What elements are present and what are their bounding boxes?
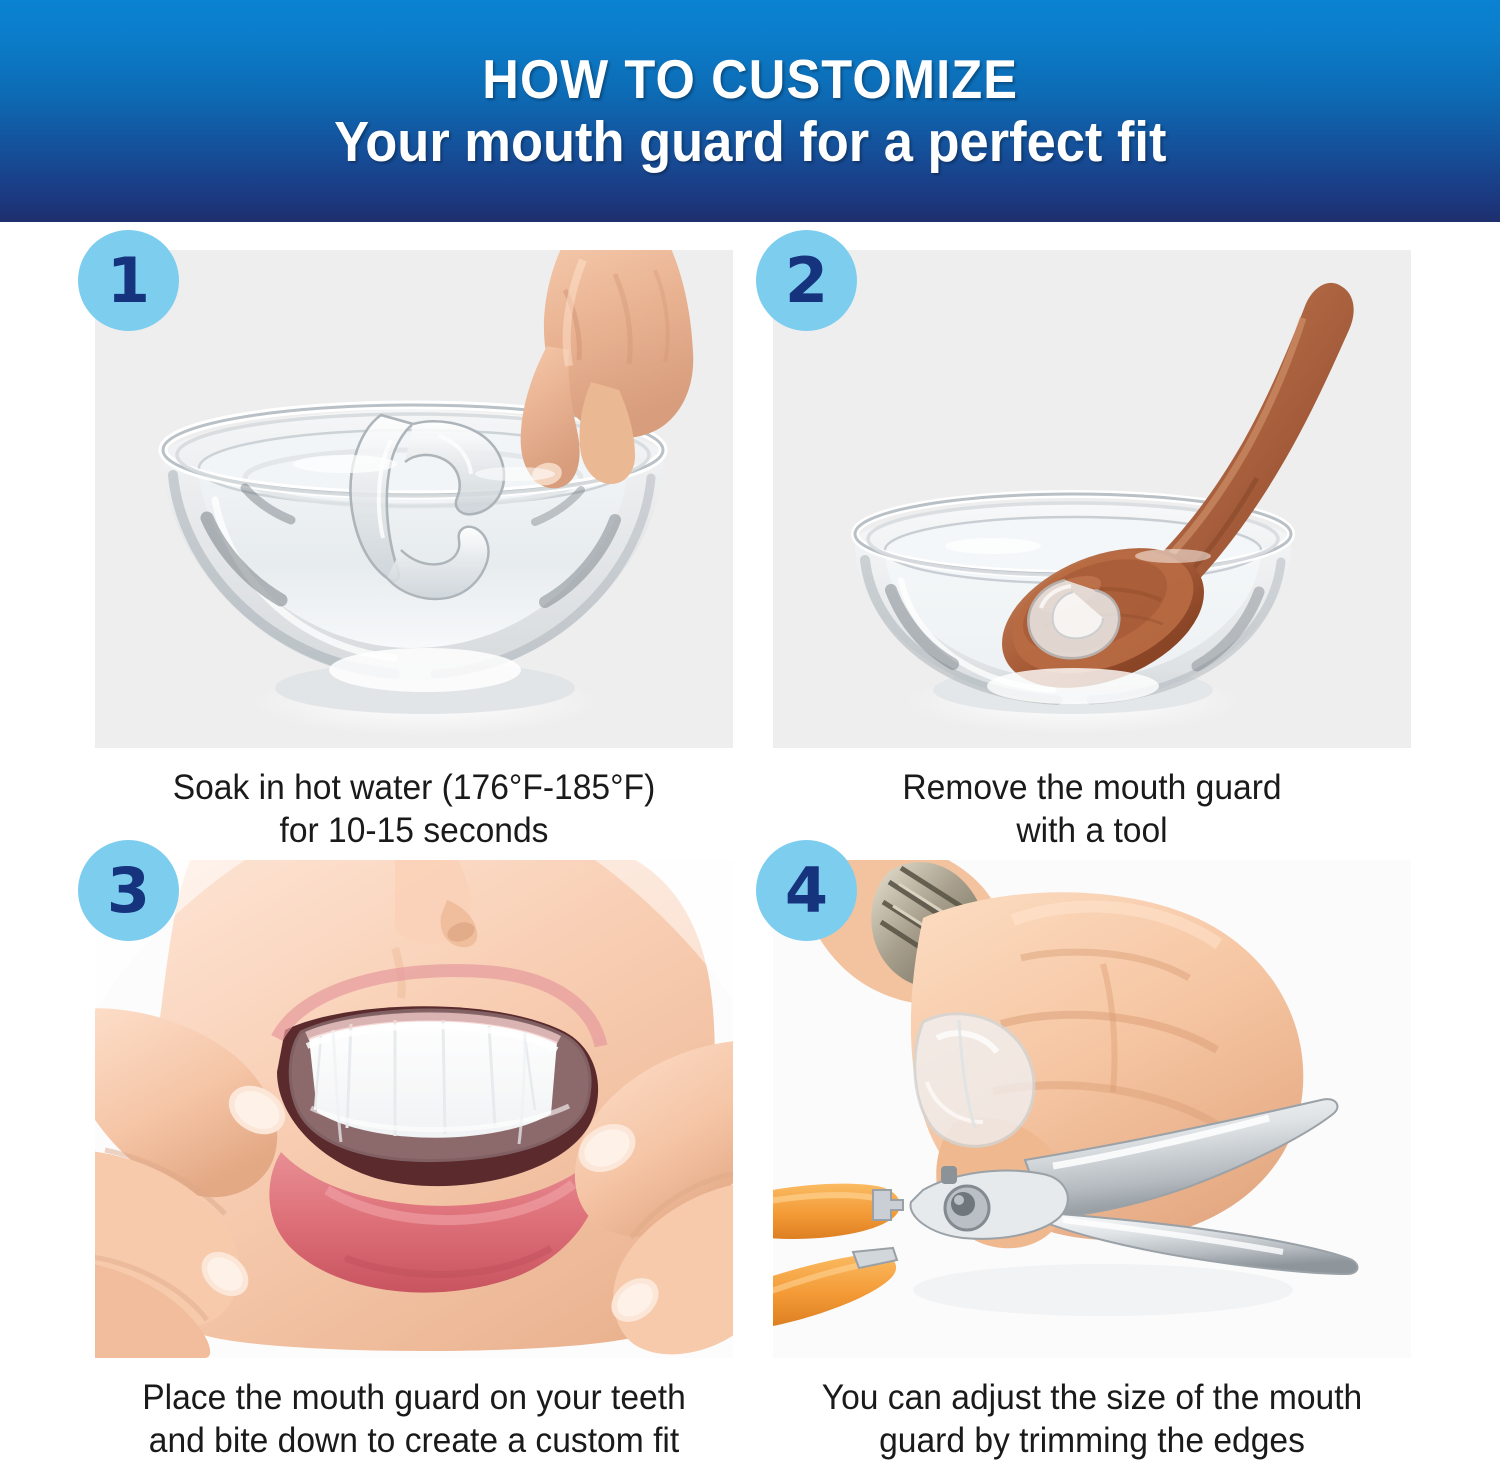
remove-with-spoon-illustration xyxy=(773,250,1411,748)
step-card-2: 2 Remove the mouth guard with a tool xyxy=(773,250,1411,853)
header-banner: HOW TO CUSTOMIZE Your mouth guard for a … xyxy=(0,0,1500,222)
step-caption-3-line-2: and bite down to create a custom fit xyxy=(108,1419,720,1462)
soak-in-water-illustration xyxy=(95,250,733,748)
page-subtitle: Your mouth guard for a perfect fit xyxy=(334,113,1166,171)
step-1-photo xyxy=(95,250,733,748)
step-4-photo xyxy=(773,860,1411,1358)
page-title: HOW TO CUSTOMIZE xyxy=(482,51,1018,107)
steps-grid: 1 Soak in hot water (176°F-185°F) for 10… xyxy=(0,222,1500,1456)
step-caption-1: Soak in hot water (176°F-185°F) for 10-1… xyxy=(108,766,720,853)
step-badge-2: 2 xyxy=(756,230,857,331)
step-badge-3: 3 xyxy=(78,840,179,941)
step-caption-1-line-1: Soak in hot water (176°F-185°F) xyxy=(108,766,720,809)
step-2-photo xyxy=(773,250,1411,748)
clear-aligner xyxy=(290,1010,590,1161)
step-caption-2: Remove the mouth guard with a tool xyxy=(786,766,1398,853)
step-caption-3-line-1: Place the mouth guard on your teeth xyxy=(108,1376,720,1419)
trim-with-scissors-illustration xyxy=(773,860,1411,1358)
step-3-photo xyxy=(95,860,733,1358)
step-caption-3: Place the mouth guard on your teeth and … xyxy=(108,1376,720,1463)
step-caption-4-line-1: You can adjust the size of the mouth xyxy=(786,1376,1398,1419)
step-badge-4: 4 xyxy=(756,840,857,941)
step-card-4: 4 You can adjust the size of the mouth g… xyxy=(773,860,1411,1463)
place-on-teeth-illustration xyxy=(95,860,733,1358)
infographic-page: HOW TO CUSTOMIZE Your mouth guard for a … xyxy=(0,0,1500,1456)
step-caption-1-line-2: for 10-15 seconds xyxy=(108,809,720,852)
step-caption-2-line-2: with a tool xyxy=(786,809,1398,852)
step-caption-4-line-2: guard by trimming the edges xyxy=(786,1419,1398,1462)
step-card-3: 3 Place the mouth guard on your teeth an… xyxy=(95,860,733,1463)
step-badge-1: 1 xyxy=(78,230,179,331)
step-caption-4: You can adjust the size of the mouth gua… xyxy=(786,1376,1398,1463)
step-card-1: 1 Soak in hot water (176°F-185°F) for 10… xyxy=(95,250,733,853)
step-caption-2-line-1: Remove the mouth guard xyxy=(786,766,1398,809)
